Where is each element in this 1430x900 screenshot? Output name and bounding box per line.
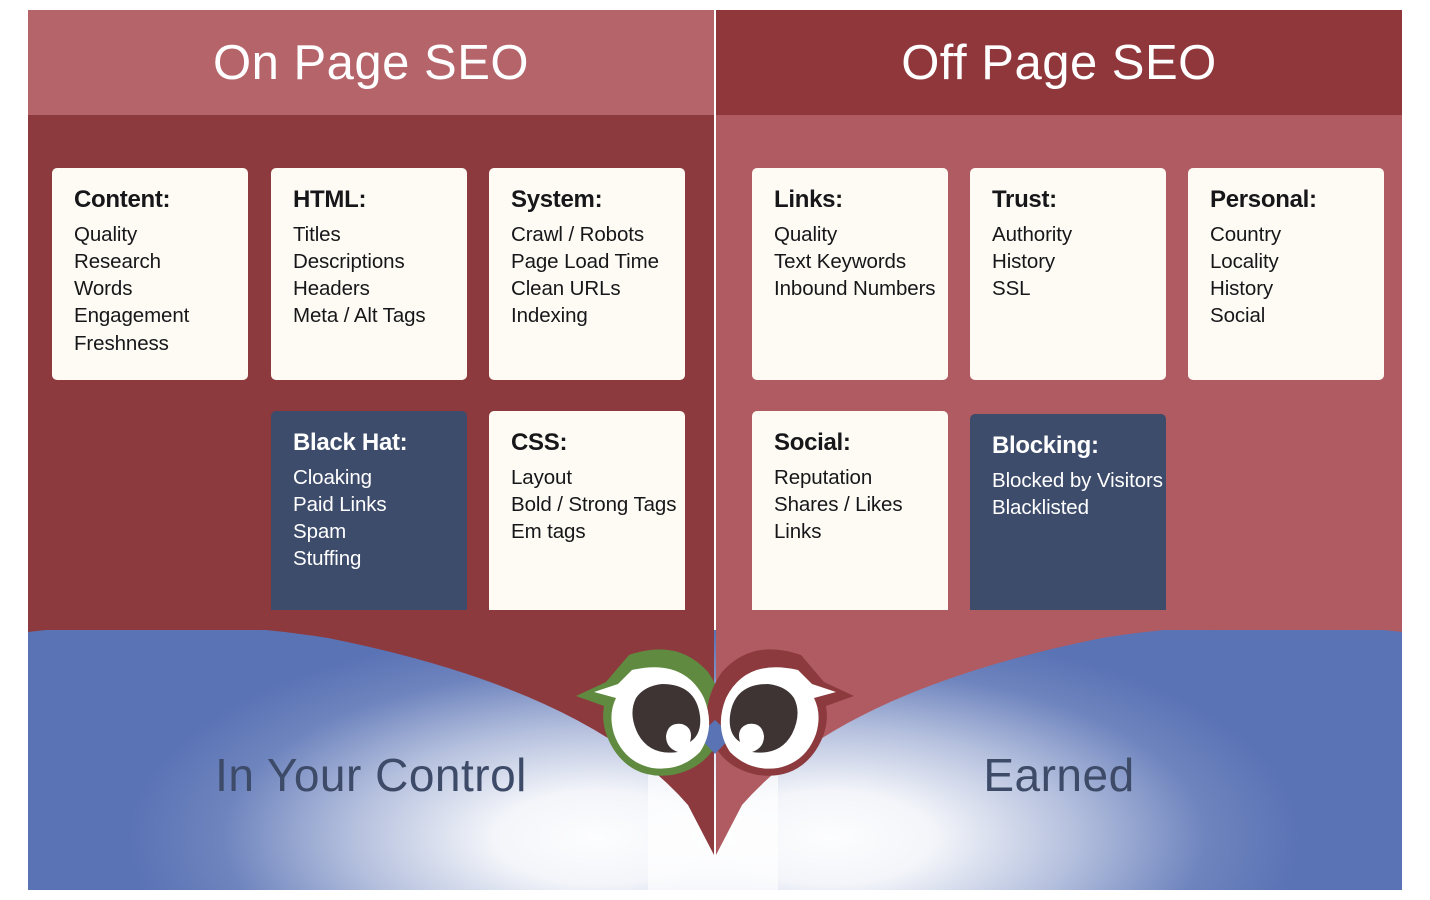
card-black-hat-title: Black Hat:	[293, 429, 445, 457]
card-css-item: Bold / Strong Tags	[511, 491, 663, 518]
card-trust-item: SSL	[992, 275, 1144, 302]
off-page-seo-panel: Off Page SEO Links: Quality Text Keyword…	[716, 10, 1402, 630]
card-trust-item: Authority	[992, 221, 1144, 248]
card-blocking-title: Blocking:	[992, 432, 1144, 460]
card-personal-item: Social	[1210, 302, 1362, 329]
card-personal-item: Country	[1210, 221, 1362, 248]
card-blocking-item: Blocked by Visitors	[992, 467, 1144, 494]
card-content-title: Content:	[74, 186, 226, 214]
seo-comparison-infographic: On Page SEO Content: Quality Research Wo…	[28, 10, 1402, 890]
card-black-hat-item: Stuffing	[293, 545, 445, 572]
card-black-hat: Black Hat: Cloaking Paid Links Spam Stuf…	[271, 411, 467, 623]
card-trust-title: Trust:	[992, 186, 1144, 214]
card-system: System: Crawl / Robots Page Load Time Cl…	[489, 168, 685, 380]
card-css-title: CSS:	[511, 429, 663, 457]
card-html-item: Titles	[293, 221, 445, 248]
card-system-title: System:	[511, 186, 663, 214]
card-links-title: Links:	[774, 186, 926, 214]
off-page-seo-title: Off Page SEO	[716, 10, 1402, 115]
card-content-item: Freshness	[74, 330, 226, 357]
card-blocking-item: Blacklisted	[992, 494, 1144, 521]
card-system-item: Page Load Time	[511, 248, 663, 275]
card-links: Links: Quality Text Keywords Inbound Num…	[752, 168, 948, 380]
card-html-item: Headers	[293, 275, 445, 302]
on-page-seo-panel: On Page SEO Content: Quality Research Wo…	[28, 10, 714, 630]
card-links-item: Quality	[774, 221, 926, 248]
card-personal: Personal: Country Locality History Socia…	[1188, 168, 1384, 380]
card-personal-item: History	[1210, 275, 1362, 302]
card-social-title: Social:	[774, 429, 926, 457]
card-system-item: Indexing	[511, 302, 663, 329]
in-your-control-label: In Your Control	[28, 748, 714, 802]
card-links-item: Text Keywords	[774, 248, 926, 275]
card-content-item: Engagement	[74, 302, 226, 329]
card-html-item: Descriptions	[293, 248, 445, 275]
card-css: CSS: Layout Bold / Strong Tags Em tags	[489, 411, 685, 623]
card-content-item: Words	[74, 275, 226, 302]
card-html-item: Meta / Alt Tags	[293, 302, 445, 329]
card-content: Content: Quality Research Words Engageme…	[52, 168, 248, 380]
card-system-item: Crawl / Robots	[511, 221, 663, 248]
on-page-seo-title: On Page SEO	[28, 10, 714, 115]
card-personal-title: Personal:	[1210, 186, 1362, 214]
card-black-hat-item: Paid Links	[293, 491, 445, 518]
card-social-item: Links	[774, 518, 926, 545]
card-black-hat-item: Cloaking	[293, 464, 445, 491]
card-content-item: Research	[74, 248, 226, 275]
card-html-title: HTML:	[293, 186, 445, 214]
card-blocking: Blocking: Blocked by Visitors Blackliste…	[970, 414, 1166, 626]
card-trust-item: History	[992, 248, 1144, 275]
card-social-item: Shares / Likes	[774, 491, 926, 518]
card-black-hat-item: Spam	[293, 518, 445, 545]
earned-label: Earned	[716, 748, 1402, 802]
card-system-item: Clean URLs	[511, 275, 663, 302]
card-links-item: Inbound Numbers	[774, 275, 926, 302]
card-html: HTML: Titles Descriptions Headers Meta /…	[271, 168, 467, 380]
card-social: Social: Reputation Shares / Likes Links	[752, 411, 948, 623]
card-css-item: Em tags	[511, 518, 663, 545]
card-personal-item: Locality	[1210, 248, 1362, 275]
card-css-item: Layout	[511, 464, 663, 491]
card-trust: Trust: Authority History SSL	[970, 168, 1166, 380]
card-social-item: Reputation	[774, 464, 926, 491]
card-content-item: Quality	[74, 221, 226, 248]
